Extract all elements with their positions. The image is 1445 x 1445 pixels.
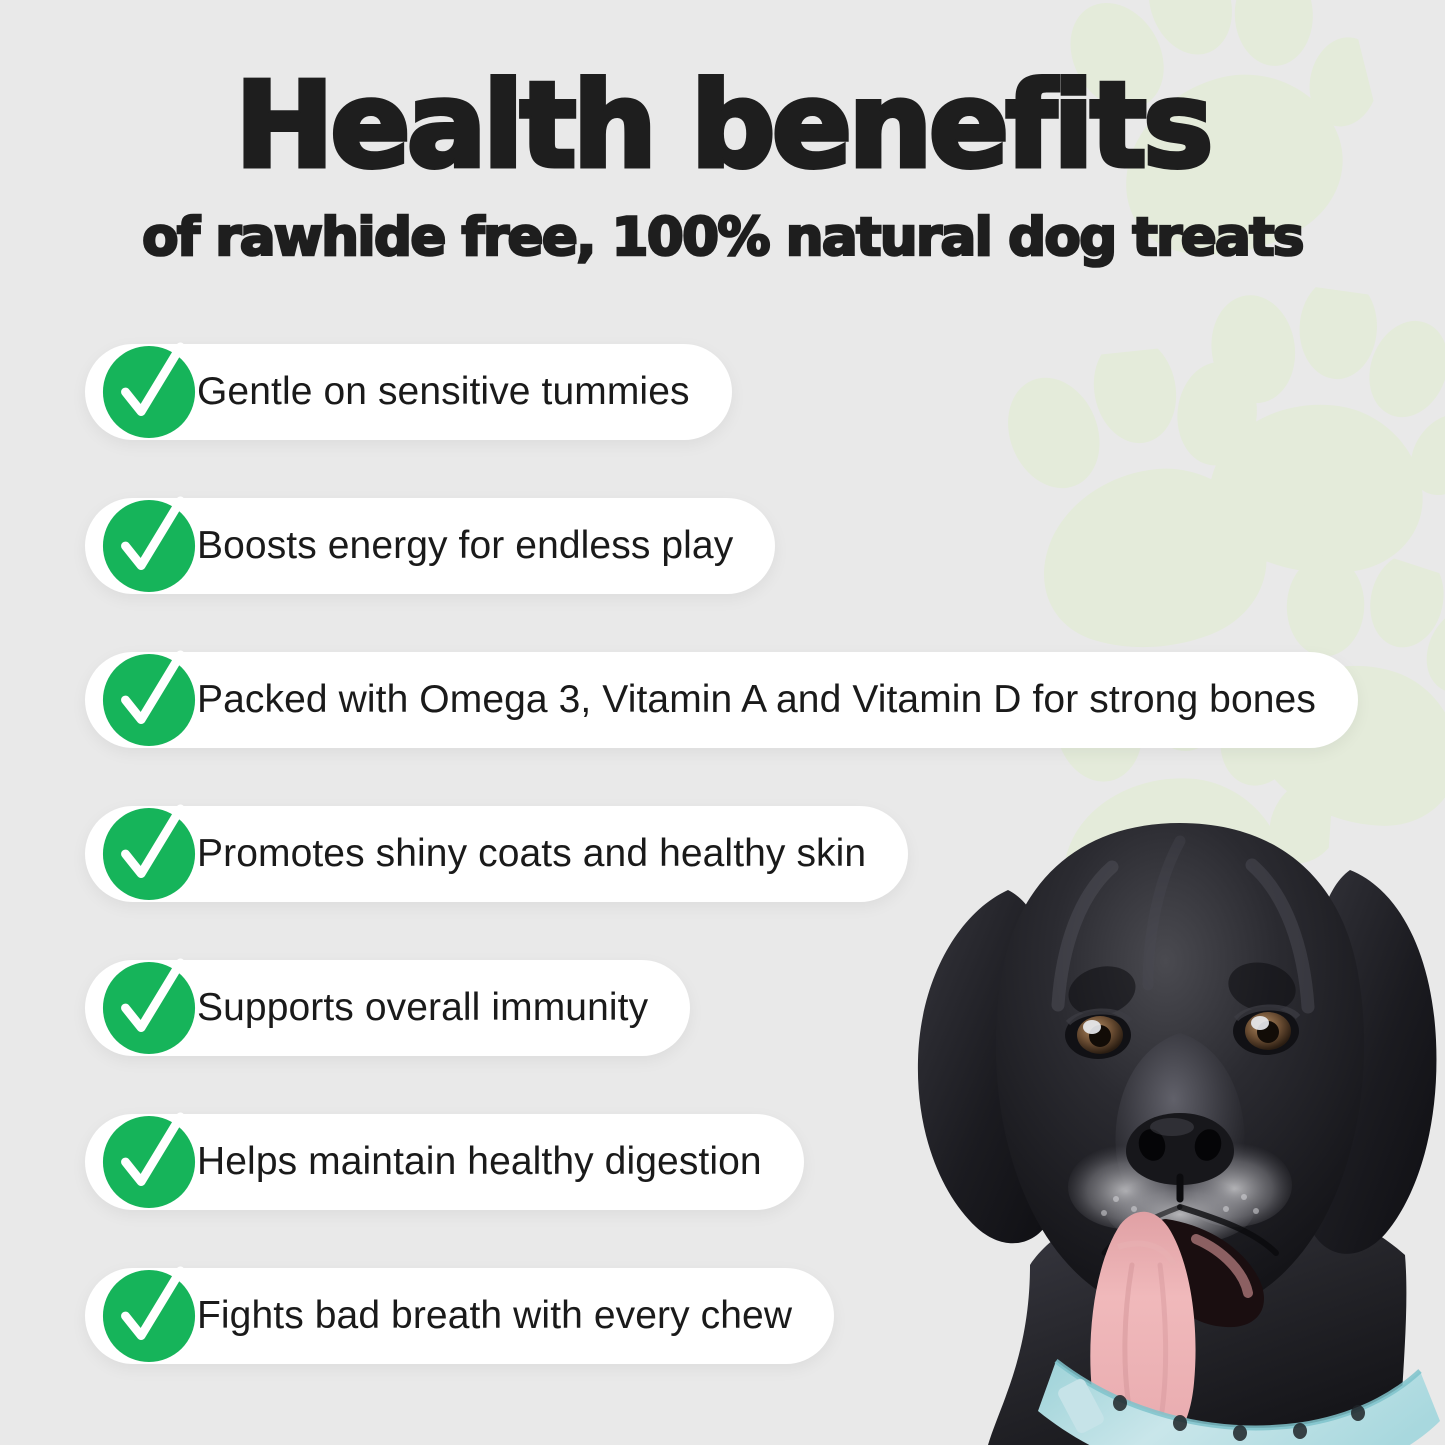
benefit-item[interactable]: Helps maintain healthy digestion	[85, 1114, 804, 1210]
benefits-list: Gentle on sensitive tummies Boosts energ…	[85, 344, 1358, 1364]
benefit-label: Promotes shiny coats and healthy skin	[197, 832, 866, 876]
heading-block: Health benefits of rawhide free, 100% na…	[0, 0, 1445, 267]
check-circle-icon	[100, 805, 198, 903]
benefit-label: Fights bad breath with every chew	[197, 1294, 792, 1338]
benefit-item[interactable]: Fights bad breath with every chew	[85, 1268, 834, 1364]
benefit-item[interactable]: Promotes shiny coats and healthy skin	[85, 806, 908, 902]
check-circle-icon	[100, 1267, 198, 1365]
check-circle-icon	[100, 651, 198, 749]
benefit-label: Packed with Omega 3, Vitamin A and Vitam…	[197, 678, 1316, 722]
page-title: Health benefits	[0, 64, 1445, 187]
benefit-label: Boosts energy for endless play	[197, 524, 733, 568]
benefit-item[interactable]: Supports overall immunity	[85, 960, 690, 1056]
benefit-item[interactable]: Boosts energy for endless play	[85, 498, 775, 594]
benefit-label: Helps maintain healthy digestion	[197, 1140, 762, 1184]
benefit-item[interactable]: Gentle on sensitive tummies	[85, 344, 732, 440]
check-circle-icon	[100, 1113, 198, 1211]
infographic-canvas: Health benefits of rawhide free, 100% na…	[0, 0, 1445, 1445]
check-circle-icon	[100, 497, 198, 595]
benefit-label: Gentle on sensitive tummies	[197, 370, 690, 414]
dog-collar	[1038, 1361, 1440, 1445]
check-circle-icon	[100, 959, 198, 1057]
benefit-label: Supports overall immunity	[197, 986, 648, 1030]
page-subtitle: of rawhide free, 100% natural dog treats	[0, 209, 1445, 267]
benefit-item[interactable]: Packed with Omega 3, Vitamin A and Vitam…	[85, 652, 1358, 748]
check-circle-icon	[100, 343, 198, 441]
